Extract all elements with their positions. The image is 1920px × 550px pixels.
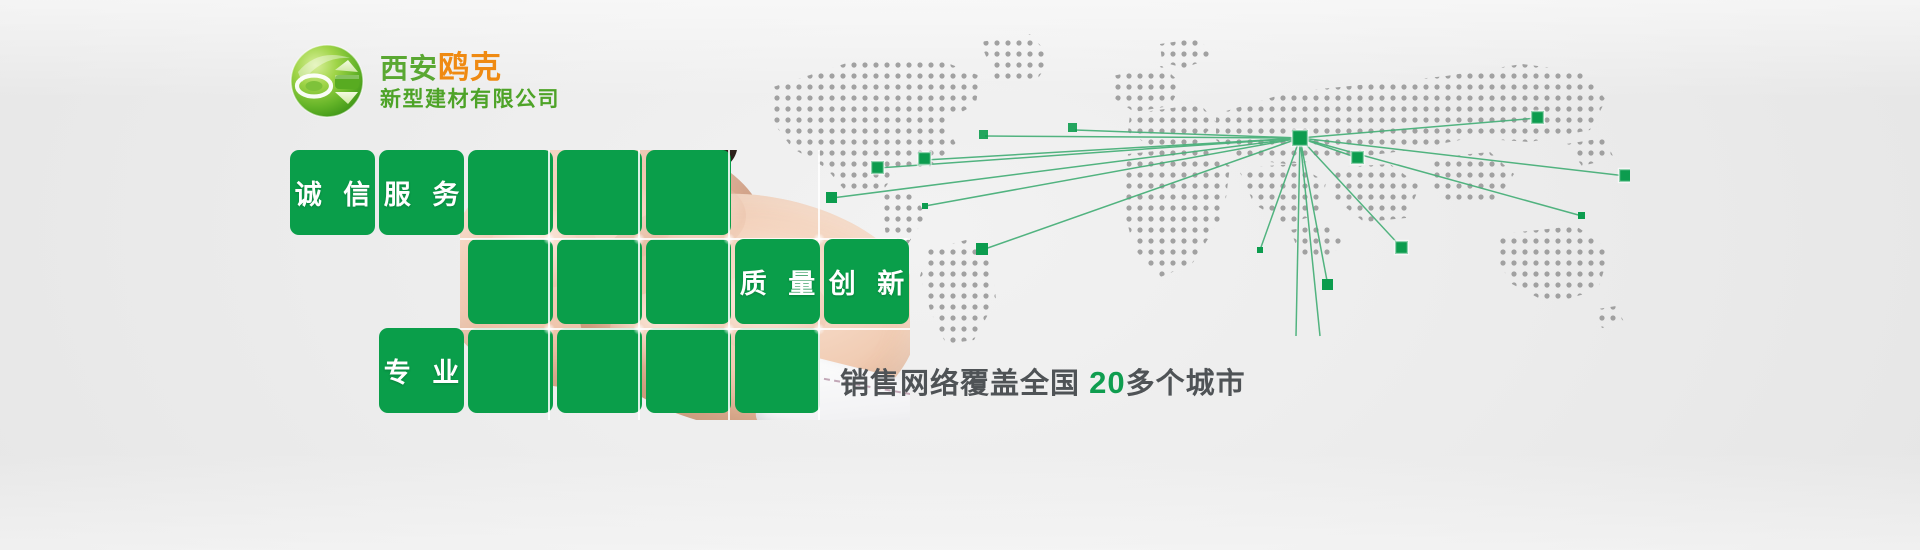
company-banner: 西安鸥克 新型建材有限公司 <box>0 0 1920 550</box>
value-tile-label: 创 新 <box>822 262 912 301</box>
mosaic-tile-blank <box>646 239 731 324</box>
value-tile-chuangxin[interactable]: 创 新 <box>824 239 909 324</box>
value-tile-fuwu[interactable]: 服 务 <box>379 150 464 235</box>
mosaic-tile-blank <box>557 150 642 235</box>
value-tile-chengxin[interactable]: 诚 信 <box>290 150 375 235</box>
value-tile-zhuanye[interactable]: 专 业 <box>379 328 464 413</box>
tagline-city-count: 20 <box>1089 365 1125 400</box>
value-tile-label: 专 业 <box>377 351 467 390</box>
logo-brand-text: 鸥克 <box>438 50 502 85</box>
sales-network-tagline: 销售网络覆盖全国 20多个城市 <box>840 360 1246 402</box>
mosaic-tile-blank <box>468 328 553 413</box>
logo-text: 西安鸥克 新型建材有限公司 <box>380 52 560 110</box>
company-logo[interactable]: 西安鸥克 新型建材有限公司 <box>288 42 560 120</box>
logo-company-name-line2: 新型建材有限公司 <box>380 89 560 110</box>
value-tile-zhiliang[interactable]: 质 量 <box>735 239 820 324</box>
value-tile-label: 质 量 <box>733 262 823 301</box>
mosaic-tile-blank <box>646 328 731 413</box>
mosaic-tile-blank <box>646 150 731 235</box>
ouke-globe-logo-icon <box>288 42 366 120</box>
value-tile-label: 诚 信 <box>288 173 378 212</box>
value-tile-label: 服 务 <box>377 173 467 212</box>
mosaic-tile-blank <box>468 150 553 235</box>
mosaic-tile-blank <box>468 239 553 324</box>
tagline-prefix: 销售网络覆盖全国 <box>840 368 1080 400</box>
logo-region-text: 西安 <box>380 53 438 84</box>
mosaic-tile-blank <box>557 239 642 324</box>
logo-company-name-line1: 西安鸥克 <box>380 52 560 83</box>
tagline-suffix: 多个城市 <box>1126 368 1246 400</box>
mosaic-photo-stage: 诚 信 服 务 质 量 创 新 专 业 <box>290 150 910 420</box>
mosaic-tile-blank <box>735 328 820 413</box>
mosaic-tile-blank <box>557 328 642 413</box>
